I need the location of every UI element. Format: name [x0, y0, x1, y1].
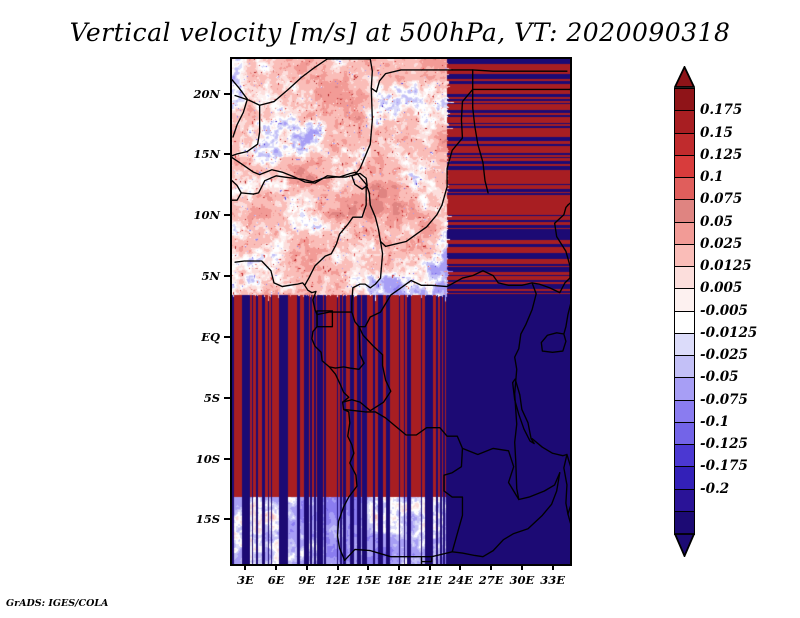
colorbar-swatch [674, 244, 695, 268]
colorbar-swatch [674, 511, 695, 535]
colorbar-tick-label: 0.1 [700, 169, 724, 185]
y-axis-tick [224, 153, 230, 155]
colorbar-tick-label: -0.05 [700, 369, 738, 385]
colorbar-tick-label: 0.005 [700, 280, 742, 296]
x-axis-label: 21E [417, 573, 442, 587]
x-axis-tick [244, 564, 246, 570]
x-axis-label: 9E [298, 573, 315, 587]
y-axis-label: 15N [182, 147, 220, 161]
y-axis-tick [224, 397, 230, 399]
x-axis-tick [459, 564, 461, 570]
colorbar-swatch [674, 199, 695, 223]
x-axis-label: 3E [237, 573, 254, 587]
colorbar-arrow-min-icon [674, 533, 695, 557]
colorbar-tick-label: -0.075 [700, 392, 748, 408]
colorbar [674, 66, 695, 555]
colorbar-tick-label: -0.125 [700, 436, 748, 452]
y-axis-label: 20N [182, 87, 220, 101]
y-axis-tick [224, 458, 230, 460]
colorbar-swatch [674, 88, 695, 112]
colorbar-swatch [674, 400, 695, 424]
y-axis-tick [224, 518, 230, 520]
colorbar-swatch [674, 355, 695, 379]
map-plot-panel [230, 57, 572, 566]
colorbar-tick-label: -0.175 [700, 458, 748, 474]
x-axis-tick [521, 564, 523, 570]
colorbar-swatch [674, 222, 695, 246]
colorbar-swatch [674, 422, 695, 446]
colorbar-swatch [674, 288, 695, 312]
colorbar-tick-label: 0.075 [700, 191, 742, 207]
colorbar-tick-label: -0.025 [700, 347, 748, 363]
colorbar-tick-label: -0.0125 [700, 325, 757, 341]
y-axis-tick [224, 93, 230, 95]
x-axis-tick [398, 564, 400, 570]
y-axis-tick [224, 214, 230, 216]
y-axis-label: 10N [182, 208, 220, 222]
chart-root: Vertical velocity [m/s] at 500hPa, VT: 2… [0, 0, 800, 618]
colorbar-swatch [674, 444, 695, 468]
footer-credit: GrADS: IGES/COLA [6, 598, 108, 609]
colorbar-swatch [674, 377, 695, 401]
y-axis-tick [224, 336, 230, 338]
colorbar-swatch [674, 177, 695, 201]
x-axis-label: 30E [510, 573, 535, 587]
colorbar-tick-label: -0.1 [700, 414, 729, 430]
colorbar-tick-label: 0.0125 [700, 258, 752, 274]
x-axis-tick [337, 564, 339, 570]
x-axis-tick [429, 564, 431, 570]
colorbar-tick-label: -0.2 [700, 481, 729, 497]
colorbar-arrow-max-icon [674, 66, 695, 88]
colorbar-swatch [674, 266, 695, 290]
x-axis-tick [275, 564, 277, 570]
colorbar-tick-label: 0.175 [700, 102, 742, 118]
colorbar-swatch [674, 311, 695, 335]
colorbar-swatch [674, 155, 695, 179]
x-axis-label: 12E [325, 573, 350, 587]
colorbar-swatch [674, 110, 695, 134]
y-axis-label: 5N [182, 269, 220, 283]
y-axis-label: 5S [182, 391, 220, 405]
colorbar-tick-label: 0.025 [700, 236, 742, 252]
x-axis-label: 33E [540, 573, 565, 587]
colorbar-tick-label: -0.005 [700, 303, 748, 319]
y-axis-label: 10S [182, 452, 220, 466]
colorbar-tick-label: 0.05 [700, 214, 733, 230]
x-axis-label: 27E [479, 573, 504, 587]
x-axis-tick [490, 564, 492, 570]
x-axis-tick [552, 564, 554, 570]
colorbar-tick-label: 0.125 [700, 147, 742, 163]
x-axis-label: 24E [448, 573, 473, 587]
y-axis-label: 15S [182, 512, 220, 526]
colorbar-swatch [674, 466, 695, 490]
country-borders-overlay [232, 59, 570, 564]
colorbar-tick-label: 0.15 [700, 125, 733, 141]
colorbar-swatch [674, 489, 695, 513]
x-axis-label: 6E [268, 573, 285, 587]
y-axis-tick [224, 275, 230, 277]
x-axis-label: 18E [387, 573, 412, 587]
colorbar-swatch [674, 333, 695, 357]
x-axis-label: 15E [356, 573, 381, 587]
x-axis-tick [306, 564, 308, 570]
x-axis-tick [367, 564, 369, 570]
colorbar-swatch [674, 133, 695, 157]
page-title: Vertical velocity [m/s] at 500hPa, VT: 2… [0, 18, 800, 47]
y-axis-label: EQ [182, 330, 220, 344]
